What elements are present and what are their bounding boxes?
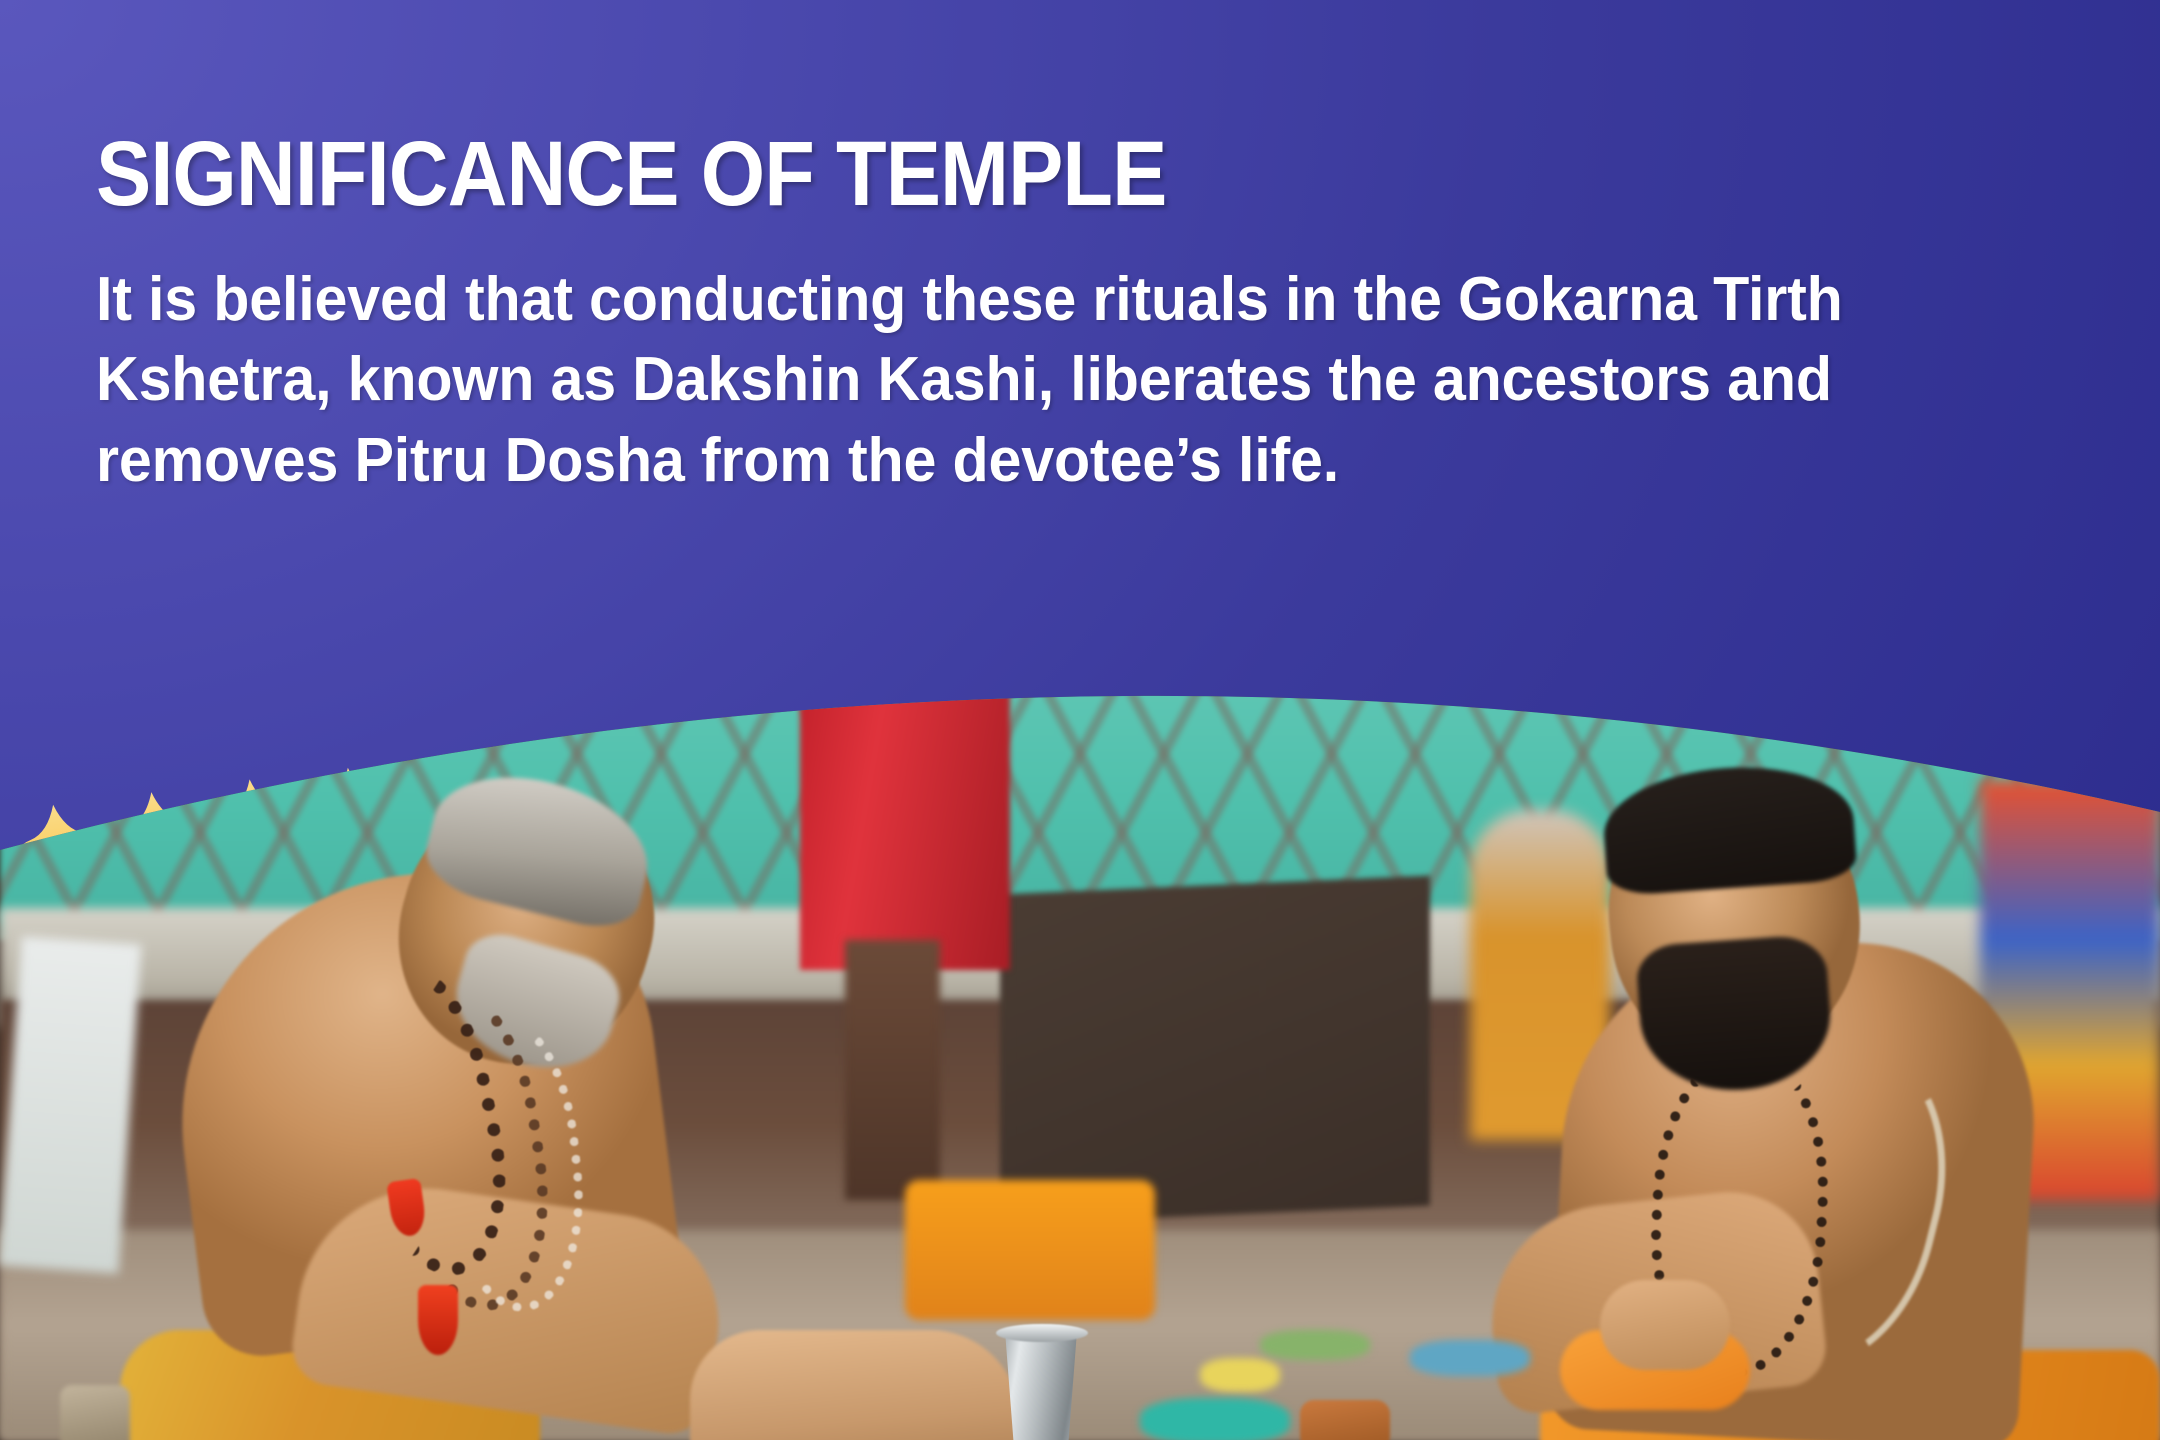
dark-wooden-panel — [1000, 876, 1430, 1225]
standing-figure-legs — [845, 940, 940, 1200]
small-vessel — [60, 1385, 130, 1440]
young-priest-hand — [1600, 1280, 1730, 1370]
scatter-teal-cloth — [1140, 1398, 1290, 1440]
steel-tumbler — [1000, 1330, 1082, 1440]
page-description: It is believed that conducting these rit… — [96, 260, 1939, 502]
scatter-green-leaf — [1260, 1330, 1370, 1360]
mala-tassel-lower — [418, 1285, 458, 1355]
copper-pot — [1300, 1400, 1390, 1440]
scatter-yellow-petal — [1200, 1358, 1280, 1392]
page-title: SIGNIFICANCE OF TEMPLE — [96, 128, 1869, 222]
priest-hands — [690, 1330, 1020, 1440]
steel-tumbler-rim — [996, 1324, 1088, 1342]
scatter-blue-cloth — [1410, 1340, 1530, 1376]
text-block: SIGNIFICANCE OF TEMPLE It is believed th… — [96, 128, 2066, 502]
slide-canvas: SIGNIFICANCE OF TEMPLE It is believed th… — [0, 0, 2160, 1440]
orange-bag — [905, 1180, 1155, 1320]
white-cloth — [0, 936, 141, 1274]
